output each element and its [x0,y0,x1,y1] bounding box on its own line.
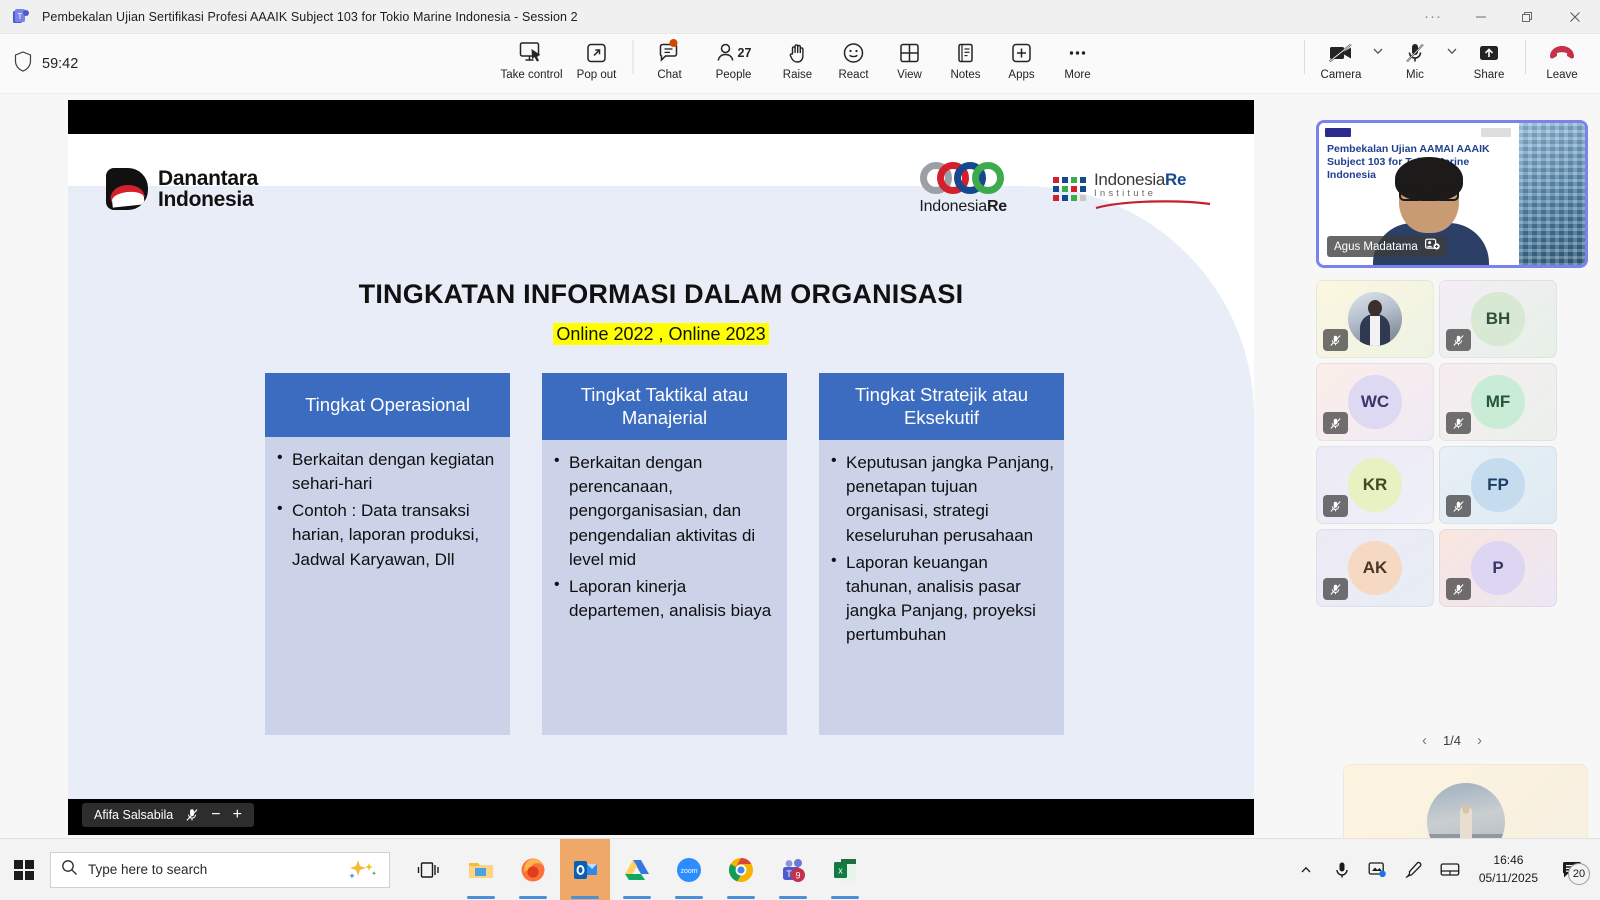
participant-tile[interactable]: WC [1316,363,1434,441]
toolbar-divider-3 [1525,40,1526,74]
bullet-item: Contoh : Data transaksi harian, laporan … [275,499,500,571]
apps-button[interactable]: Apps [994,38,1050,81]
mic-button[interactable]: Mic [1387,38,1443,81]
mic-off-icon [1446,329,1471,351]
chrome-icon[interactable] [716,839,766,900]
column-body: Keputusan jangka Panjang, penetapan tuju… [819,440,1064,664]
taskbar-apps: zoom T 9 [404,839,870,900]
notes-label: Notes [950,69,980,81]
running-indicator [779,896,807,899]
pop-out-button[interactable]: Pop out [569,38,625,81]
slide-column-taktikal: Tingkat Taktikal atau Manajerial Berkait… [542,373,787,735]
firefox-icon[interactable] [508,839,558,900]
chat-icon [658,40,682,66]
letterbox-top [68,100,1254,134]
svg-text:T: T [18,12,23,21]
participant-tile[interactable]: P [1439,529,1557,607]
share-button[interactable]: Share [1461,38,1517,81]
window-title: Pembekalan Ujian Sertifikasi Profesi AAA… [42,10,578,24]
teams-badge-count: 9 [795,870,800,880]
toolbar-divider-2 [1304,40,1305,74]
participant-rail: Pembekalan Ujian AAMAI AAAIK Subject 103… [1305,94,1600,838]
slide-title: TINGKATAN INFORMASI DALAM ORGANISASI [68,279,1254,310]
take-control-icon [518,40,544,66]
column-body: Berkaitan dengan perencanaan, pengorgani… [542,440,787,640]
indonesia-re-logo: IndonesiaRe [919,162,1007,216]
participant-tile[interactable] [1316,280,1434,358]
avatar: WC [1348,375,1402,429]
running-indicator [727,896,755,899]
danantara-logo: Danantara Indonesia [106,168,258,211]
clock-date: 05/11/2025 [1479,870,1538,887]
mic-off-icon [1404,40,1426,66]
apps-label: Apps [1008,69,1034,81]
pager-label: 1/4 [1443,733,1461,748]
hang-up-icon [1547,40,1577,66]
column-heading: Tingkat Taktikal atau Manajerial [542,373,787,440]
danantara-line2: Indonesia [158,189,258,210]
windows-start-icon[interactable] [0,839,48,900]
meeting-timer-group: 59:42 [14,51,78,77]
toolbar-center-actions: Take control Pop out C [494,34,1105,94]
outlook-icon[interactable] [560,839,610,900]
svg-text:x: x [838,865,843,875]
danantara-wordmark: Danantara Indonesia [158,168,258,211]
system-tray: 16:46 05/11/2025 20 [1289,839,1600,900]
active-speaker-tile[interactable]: Pembekalan Ujian AAMAI AAAIK Subject 103… [1316,120,1588,268]
avatar [1348,292,1402,346]
view-button[interactable]: View [882,38,938,81]
avatar: KR [1348,458,1402,512]
more-button[interactable]: More [1050,38,1106,81]
search-input[interactable]: Type here to search [50,852,390,888]
running-indicator [675,896,703,899]
window-titlebar: T Pembekalan Ujian Sertifikasi Profesi A… [0,0,1600,34]
minimize-button[interactable] [1458,0,1504,34]
partner-logos: IndonesiaRe IndonesiaRe Institute [919,162,1212,216]
excel-icon[interactable]: x [820,839,870,900]
pinned-video-icon [1425,238,1440,256]
zoom-in-button[interactable]: + [233,806,242,824]
danantara-mark-icon [106,168,148,210]
mic-label: Mic [1406,69,1424,81]
slide-subtitle: Online 2022 , Online 2023 [68,324,1254,345]
column-heading: Tingkat Operasional [265,373,510,437]
notification-count: 20 [1568,863,1590,885]
slide-header: Danantara Indonesia IndonesiaRe [68,134,1254,244]
window-controls: ··· [1408,0,1600,34]
people-count: 27 [738,46,752,60]
taskbar-clock[interactable]: 16:46 05/11/2025 [1469,839,1548,900]
file-explorer-icon[interactable] [456,839,506,900]
running-indicator [571,896,599,899]
share-label: Share [1474,69,1505,81]
slide-columns: Tingkat Operasional Berkaitan dengan keg… [265,373,1065,735]
pager-next-button[interactable]: › [1477,732,1482,749]
bullet-item: Laporan kinerja departemen, analisis bia… [552,575,777,623]
action-center-icon[interactable]: 20 [1550,839,1594,900]
mic-off-icon [1446,412,1471,434]
dot-grid-icon [1053,177,1086,201]
microphone-icon[interactable] [1325,839,1359,900]
pager-prev-button[interactable]: ‹ [1422,732,1427,749]
leave-button[interactable]: Leave [1534,38,1590,81]
take-control-label: Take control [500,69,562,81]
raise-label: Raise [783,69,812,81]
more-ellipsis-icon [1066,40,1090,66]
presenter-mic-off-icon [185,808,199,822]
meeting-timer: 59:42 [42,56,78,72]
people-icon: 27 [716,40,752,66]
presenter-control-bar: Afifa Salsabila − + [82,803,254,827]
toolbar-divider-1 [633,40,634,74]
chat-unread-badge [670,39,678,47]
camera-options-chevron-down-icon[interactable] [1369,38,1387,64]
indonesia-re-institute-logo: IndonesiaRe Institute [1053,170,1212,209]
toolbar-right-actions: Camera Mic [1296,34,1590,94]
column-body: Berkaitan dengan kegiatan sehari-hari Co… [265,437,510,589]
screenshot-tool-icon[interactable] [1361,839,1395,900]
raise-hand-button[interactable]: Raise [770,38,826,81]
participant-tiles-grid: BH WC MF KR FP [1316,280,1588,607]
react-button[interactable]: React [826,38,882,81]
apps-plus-icon [1011,40,1033,66]
indonesia-re-rings-icon [920,162,1006,194]
avatar: MF [1471,375,1525,429]
more-label: More [1064,69,1090,81]
mic-off-icon [1323,578,1348,600]
mic-off-icon [1446,495,1471,517]
participant-pager: ‹ 1/4 › [1316,732,1588,749]
notes-button[interactable]: Notes [938,38,994,81]
take-control-button[interactable]: Take control [494,38,568,81]
restore-button[interactable] [1504,0,1550,34]
touchpad-icon[interactable] [1433,839,1467,900]
view-label: View [897,69,922,81]
shield-icon [14,51,32,77]
search-icon [61,859,78,881]
sparkle-icon[interactable] [345,858,379,882]
bullet-item: Berkaitan dengan kegiatan sehari-hari [275,448,500,496]
speaker-nameplate: Agus Madatama [1327,236,1447,257]
share-screen-icon [1476,40,1502,66]
close-button[interactable] [1550,0,1600,34]
search-placeholder: Type here to search [88,862,207,877]
slide-column-operasional: Tingkat Operasional Berkaitan dengan keg… [265,373,510,735]
view-grid-icon [899,40,921,66]
running-indicator [467,896,495,899]
indonesia-re-institute-wordmark: IndonesiaRe Institute [1094,170,1212,209]
camera-label: Camera [1321,69,1362,81]
meeting-toolbar: 59:42 Take control Pop ou [0,34,1600,94]
clock-time: 16:46 [1493,852,1523,869]
bullet-item: Keputusan jangka Panjang, penetapan tuju… [829,451,1054,548]
show-hidden-icons-chevron-up-icon[interactable] [1289,839,1323,900]
mic-off-icon [1323,329,1348,351]
mic-off-icon [1323,495,1348,517]
task-view-icon[interactable] [404,839,454,900]
windows-taskbar: Type here to search [0,838,1600,900]
pop-out-label: Pop out [577,69,617,81]
institute-swoosh-icon [1094,200,1212,209]
participant-tile[interactable]: MF [1439,363,1557,441]
google-drive-icon[interactable] [612,839,662,900]
avatar: AK [1348,541,1402,595]
zoom-out-button[interactable]: − [211,806,220,824]
participant-tile[interactable]: FP [1439,446,1557,524]
speaker-name: Agus Madatama [1334,241,1418,253]
pen-icon[interactable] [1397,839,1431,900]
running-indicator [623,896,651,899]
zoom-icon[interactable]: zoom [664,839,714,900]
deck-logo-icon [1325,128,1351,137]
speaker-background-building [1519,123,1585,265]
indonesia-re-wordmark: IndonesiaRe [919,198,1007,216]
running-indicator [831,896,859,899]
camera-button[interactable]: Camera [1313,38,1369,81]
mic-off-icon [1446,578,1471,600]
mic-options-chevron-down-icon[interactable] [1443,38,1461,64]
avatar: P [1471,541,1525,595]
presenter-name: Afifa Salsabila [94,808,173,822]
teams-icon: T [12,8,30,26]
shared-content-viewer[interactable]: Danantara Indonesia IndonesiaRe [68,100,1254,835]
participant-tile[interactable]: AK [1316,529,1434,607]
titlebar-more-button[interactable]: ··· [1408,0,1458,34]
leave-label: Leave [1546,69,1577,81]
meeting-stage: Danantara Indonesia IndonesiaRe [0,94,1305,838]
institute-subtext: Institute [1094,188,1212,199]
danantara-line1: Danantara [158,168,258,189]
bullet-item: Berkaitan dengan perencanaan, pengorgani… [552,451,777,572]
column-heading: Tingkat Stratejik atau Eksekutif [819,373,1064,440]
teams-icon[interactable]: T 9 [768,839,818,900]
notes-icon [956,40,976,66]
chat-button[interactable]: Chat [642,38,698,81]
participant-tile[interactable]: BH [1439,280,1557,358]
deck-logo-secondary-icon [1481,128,1511,137]
react-label: React [838,69,868,81]
running-indicator [519,896,547,899]
slide-column-stratejik: Tingkat Stratejik atau Eksekutif Keputus… [819,373,1064,735]
react-smiley-icon [843,40,865,66]
people-button[interactable]: 27 People [698,38,770,81]
presentation-slide: Danantara Indonesia IndonesiaRe [68,134,1254,799]
people-label: People [716,69,752,81]
mic-off-icon [1323,412,1348,434]
chat-label: Chat [657,69,681,81]
pop-out-icon [586,40,608,66]
camera-off-icon [1327,40,1355,66]
avatar: BH [1471,292,1525,346]
slide-subtitle-highlight: Online 2022 , Online 2023 [553,323,768,345]
svg-text:zoom: zoom [680,868,697,875]
bullet-item: Laporan keuangan tahunan, analisis pasar… [829,551,1054,648]
raise-hand-icon [787,40,809,66]
participant-tile[interactable]: KR [1316,446,1434,524]
avatar: FP [1471,458,1525,512]
